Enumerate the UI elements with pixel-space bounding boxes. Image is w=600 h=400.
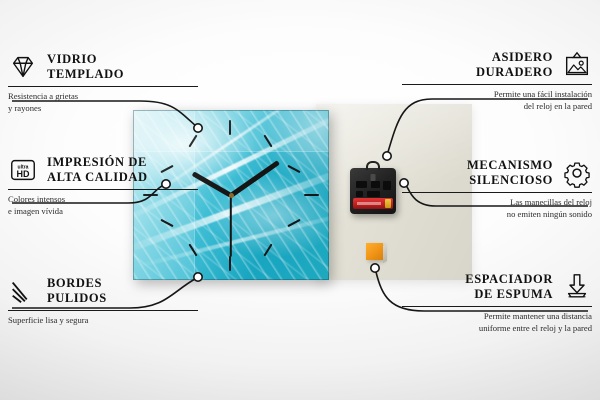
feature-desc-line2: y rayones bbox=[8, 103, 198, 115]
feature-header: BORDES PULIDOS bbox=[8, 276, 198, 306]
feature-title: VIDRIO TEMPLADO bbox=[47, 52, 124, 82]
feature-espaciador-de-espuma[interactable]: ESPACIADOR DE ESPUMA Permite mantener un… bbox=[402, 272, 592, 335]
clock-hub bbox=[229, 193, 234, 198]
clock-movement-box bbox=[350, 168, 396, 214]
hour-marker-12 bbox=[229, 120, 231, 135]
divider bbox=[8, 86, 198, 87]
feature-desc-line2: del reloj en la pared bbox=[402, 101, 592, 113]
feature-header: VIDRIO TEMPLADO bbox=[8, 52, 198, 82]
foam-spacer-piece bbox=[366, 243, 383, 260]
hour-marker-3 bbox=[304, 194, 319, 196]
feature-title: BORDES PULIDOS bbox=[47, 276, 107, 306]
feature-header: ESPACIADOR DE ESPUMA bbox=[402, 272, 592, 302]
feature-vidrio-templado[interactable]: VIDRIO TEMPLADO Resistencia a grietas y … bbox=[8, 52, 198, 115]
feature-desc-line1: Las manecillas del reloj bbox=[402, 197, 592, 209]
feature-header: ASIDERO DURADERO bbox=[402, 50, 592, 80]
ultra-hd-icon: ultra HD bbox=[8, 155, 38, 185]
gear-icon bbox=[562, 158, 592, 188]
hanger-tab bbox=[366, 161, 380, 170]
divider bbox=[8, 310, 198, 311]
divider bbox=[402, 192, 592, 193]
divider bbox=[8, 189, 198, 190]
hour-marker-6 bbox=[229, 256, 231, 271]
feature-bordes-pulidos[interactable]: BORDES PULIDOS Superficie lisa y segura bbox=[8, 276, 198, 327]
feature-desc-line2: uniforme entre el reloj y la pared bbox=[402, 323, 592, 335]
feature-title: ESPACIADOR DE ESPUMA bbox=[465, 272, 553, 302]
feature-header: MECANISMO SILENCIOSO bbox=[402, 158, 592, 188]
polished-edges-icon bbox=[8, 276, 38, 306]
feature-desc-line1: Permite mantener una distancia bbox=[402, 311, 592, 323]
feature-desc-line1: Colores intensos bbox=[8, 194, 198, 206]
down-arrow-pad-icon bbox=[562, 272, 592, 302]
diamond-icon bbox=[8, 52, 38, 82]
feature-title: IMPRESIÓN DE ALTA CALIDAD bbox=[47, 155, 148, 185]
movement-shaft bbox=[371, 174, 376, 181]
feature-mecanismo-silencioso[interactable]: MECANISMO SILENCIOSO Las manecillas del … bbox=[402, 158, 592, 221]
feature-desc-line2: e imagen vívida bbox=[8, 206, 198, 218]
feature-desc-line1: Resistencia a grietas bbox=[8, 91, 198, 103]
feature-impresion-alta-calidad[interactable]: ultra HD IMPRESIÓN DE ALTA CALIDAD Color… bbox=[8, 155, 198, 218]
feature-asidero-duradero[interactable]: ASIDERO DURADERO Permite una fácil insta… bbox=[402, 50, 592, 113]
feature-desc-line1: Superficie lisa y segura bbox=[8, 315, 198, 327]
divider bbox=[402, 306, 592, 307]
feature-desc-line2: no emiten ningún sonido bbox=[402, 209, 592, 221]
second-hand bbox=[230, 195, 232, 257]
feature-header: ultra HD IMPRESIÓN DE ALTA CALIDAD bbox=[8, 155, 198, 185]
svg-text:HD: HD bbox=[17, 169, 30, 179]
wall-frame-hanger-icon bbox=[562, 50, 592, 80]
feature-desc-line1: Permite una fácil instalación bbox=[402, 89, 592, 101]
divider bbox=[402, 84, 592, 85]
feature-title: ASIDERO DURADERO bbox=[476, 50, 553, 80]
feature-title: MECANISMO SILENCIOSO bbox=[467, 158, 553, 188]
aa-battery bbox=[353, 198, 393, 209]
